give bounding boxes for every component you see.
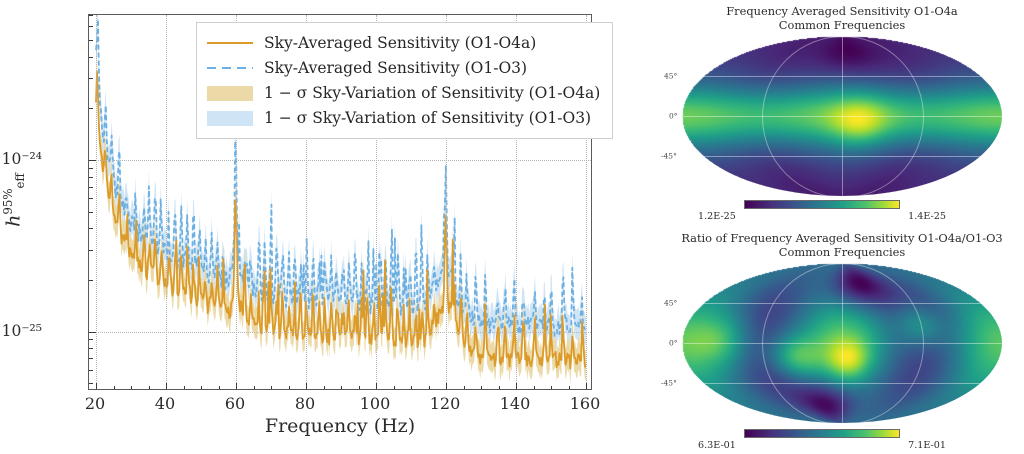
x-tick-label: 120: [430, 394, 461, 413]
x-tick-minor: [569, 386, 570, 390]
y-tick: [88, 160, 96, 161]
lat-label-0: 0°: [669, 339, 678, 348]
y-axis-title-superscript: 95%: [1, 188, 15, 214]
y-tick-minor: [88, 383, 93, 384]
x-tick-minor: [464, 386, 465, 390]
lat-label-45: 45°: [664, 299, 677, 308]
x-tick-label: 40: [155, 394, 175, 413]
y-tick-minor: [88, 339, 93, 340]
x-tick: [166, 383, 167, 390]
y-tick-minor: [88, 212, 93, 213]
skymap-top-title-line2: Common Frequencies: [660, 19, 1024, 33]
legend-item: Sky-Averaged Sensitivity (O1-O3): [207, 55, 600, 80]
y-axis-title: h95%eff: [1, 173, 27, 227]
x-tick: [96, 383, 97, 390]
x-tick-label: 80: [295, 394, 315, 413]
y-tick-label: 10⁻²⁴: [2, 150, 42, 168]
mollweide-bottom: 45° 0° -45°: [682, 263, 1002, 423]
x-tick-minor: [131, 386, 132, 390]
x-tick: [306, 383, 307, 390]
y-tick-minor: [88, 187, 93, 188]
legend-item: Sky-Averaged Sensitivity (O1-O4a): [207, 30, 600, 55]
y-tick-minor: [88, 228, 93, 229]
x-tick-minor: [394, 386, 395, 390]
y-tick-minor: [88, 250, 93, 251]
x-tick: [236, 383, 237, 390]
lat-label-minus45: -45°: [661, 152, 677, 161]
legend-label: Sky-Averaged Sensitivity (O1-O4a): [264, 34, 536, 52]
x-tick-minor: [429, 386, 430, 390]
colorbar-top-max: 1.4E-25: [908, 211, 946, 222]
x-tick-minor: [184, 386, 185, 390]
x-tick-minor: [271, 386, 272, 390]
x-tick-label: 20: [85, 394, 105, 413]
skymap-bottom-title-line1: Ratio of Frequency Averaged Sensitivity …: [660, 232, 1024, 246]
skymap-panel-bottom: Ratio of Frequency Averaged Sensitivity …: [660, 227, 1024, 454]
skymap-top-title: Frequency Averaged Sensitivity O1-O4a Co…: [660, 0, 1024, 32]
x-tick-minor: [324, 386, 325, 390]
colorbar-top-gradient: [744, 200, 900, 209]
mollweide-bottom-image: [682, 263, 1002, 423]
x-tick-label: 100: [360, 394, 391, 413]
lat-label-minus45: -45°: [661, 379, 677, 388]
x-tick: [376, 383, 377, 390]
legend-key-band-o4a: [207, 85, 253, 101]
y-tick-minor: [88, 177, 93, 178]
colorbar-bottom-min: 6.3E-01: [698, 440, 736, 451]
x-tick-minor: [499, 386, 500, 390]
x-axis-title: Frequency (Hz): [265, 415, 415, 437]
y-tick-minor: [88, 40, 93, 41]
x-tick-minor: [219, 386, 220, 390]
colorbar-bottom-max: 7.1E-01: [908, 440, 946, 451]
legend-key-solid-line: [207, 35, 253, 51]
x-tick-label: 140: [500, 394, 531, 413]
colorbar-top-min: 1.2E-25: [698, 211, 736, 222]
lat-label-45: 45°: [664, 72, 677, 81]
y-axis-title-subscript: eff: [13, 173, 27, 188]
y-axis-title-symbol: h: [2, 215, 24, 227]
legend-key-dashed-line: [207, 60, 253, 76]
skymap-bottom-title-line2: Common Frequencies: [660, 246, 1024, 260]
legend-key-band-o3: [207, 110, 253, 126]
skymap-top-title-line1: Frequency Averaged Sensitivity O1-O4a: [660, 5, 1024, 19]
y-tick-minor: [88, 370, 93, 371]
legend-item: 1 − σ Sky-Variation of Sensitivity (O1-O…: [207, 105, 600, 130]
y-tick-minor: [88, 57, 93, 58]
skymap-panel-top: Frequency Averaged Sensitivity O1-O4a Co…: [660, 0, 1024, 227]
legend-label: 1 − σ Sky-Variation of Sensitivity (O1-O…: [264, 84, 600, 102]
x-tick-minor: [114, 386, 115, 390]
spectrum-legend: Sky-Averaged Sensitivity (O1-O4a) Sky-Av…: [196, 22, 613, 139]
x-tick: [446, 383, 447, 390]
x-tick-minor: [481, 386, 482, 390]
colorbar-bottom-gradient: [744, 429, 900, 438]
y-tick-minor: [88, 358, 93, 359]
x-tick-minor: [254, 386, 255, 390]
x-tick-minor: [411, 386, 412, 390]
x-tick-minor: [359, 386, 360, 390]
x-tick-minor: [551, 386, 552, 390]
x-tick-minor: [341, 386, 342, 390]
x-tick-minor: [534, 386, 535, 390]
y-tick-minor: [88, 78, 93, 79]
x-tick-label: 160: [570, 394, 601, 413]
y-tick-minor: [88, 15, 93, 16]
lat-label-0: 0°: [669, 112, 678, 121]
y-tick-minor: [88, 168, 93, 169]
y-tick: [88, 332, 96, 333]
x-tick-label: 60: [225, 394, 245, 413]
x-tick-minor: [149, 386, 150, 390]
colorbar-top: 1.2E-25 1.4E-25: [744, 200, 900, 209]
y-tick-minor: [88, 198, 93, 199]
legend-label: Sky-Averaged Sensitivity (O1-O3): [264, 59, 527, 77]
y-tick-minor: [88, 348, 93, 349]
y-tick-minor: [88, 26, 93, 27]
mollweide-top: 45° 0° -45°: [682, 36, 1002, 196]
legend-item: 1 − σ Sky-Variation of Sensitivity (O1-O…: [207, 80, 600, 105]
x-tick: [586, 383, 587, 390]
y-tick-minor: [88, 108, 93, 109]
skymap-bottom-title: Ratio of Frequency Averaged Sensitivity …: [660, 227, 1024, 259]
legend-label: 1 − σ Sky-Variation of Sensitivity (O1-O…: [264, 109, 591, 127]
x-tick-minor: [289, 386, 290, 390]
y-tick-minor: [88, 280, 93, 281]
x-tick: [516, 383, 517, 390]
y-tick-label: 10⁻²⁵: [2, 322, 42, 340]
spectrum-panel: 2040608010012014016010⁻²⁴10⁻²⁵ Frequency…: [0, 0, 640, 454]
mollweide-top-image: [682, 36, 1002, 196]
colorbar-bottom: 6.3E-01 7.1E-01: [744, 429, 900, 438]
x-tick-minor: [201, 386, 202, 390]
